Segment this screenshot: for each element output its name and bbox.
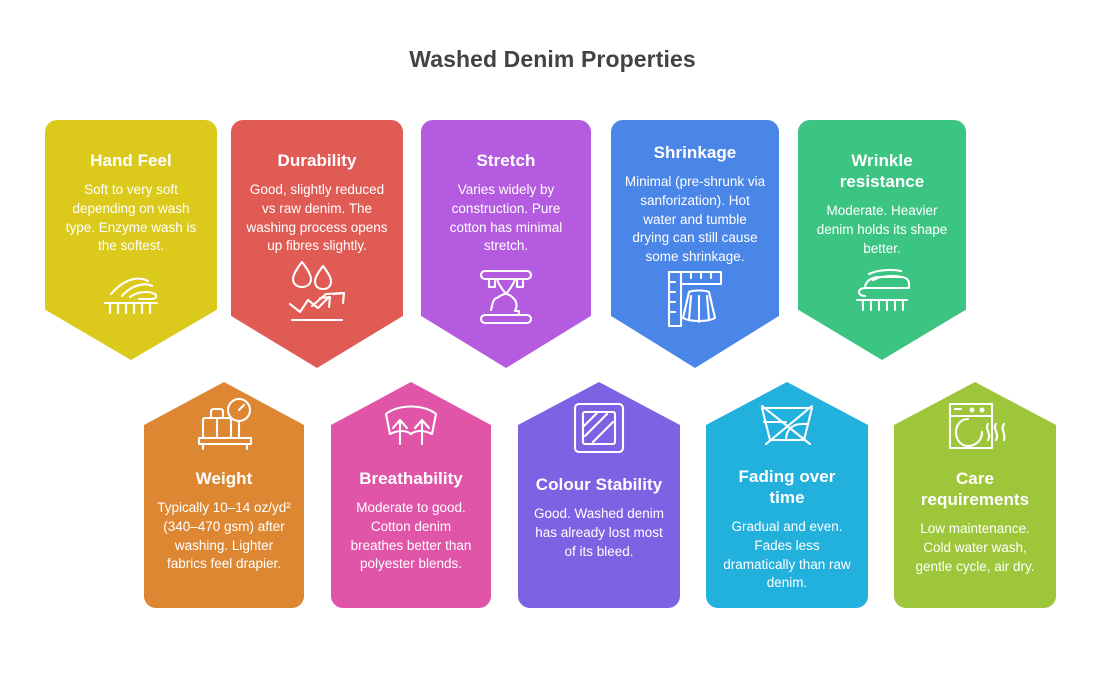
infographic-root: Washed Denim Properties Hand Feel Soft t… xyxy=(0,0,1105,683)
page-title: Washed Denim Properties xyxy=(0,46,1105,73)
card-hand-feel[interactable]: Hand Feel Soft to very soft depending on… xyxy=(45,120,217,360)
card-description: Good. Washed denim has already lost most… xyxy=(531,505,667,561)
iron-icon xyxy=(851,268,913,318)
card-fading-over-time[interactable]: Fading over time Gradual and even. Fades… xyxy=(706,382,868,608)
card-colour-stability[interactable]: Colour Stability Good. Washed denim has … xyxy=(518,382,680,608)
card-description: Typically 10–14 oz/yd² (340–470 gsm) aft… xyxy=(157,499,291,574)
ruler-skirt-icon xyxy=(663,268,727,332)
water-drops-arrows-icon xyxy=(282,258,352,326)
airflow-arrows-icon xyxy=(378,400,444,450)
card-description: Moderate to good. Cotton denim breathes … xyxy=(344,499,478,574)
card-description: Soft to very soft depending on wash type… xyxy=(58,181,204,256)
card-title: Stretch xyxy=(477,150,536,171)
card-title: Breathability xyxy=(359,468,463,489)
card-title: Durability xyxy=(278,150,357,171)
card-title: Fading over time xyxy=(719,466,855,508)
card-description: Low maintenance. Cold water wash, gentle… xyxy=(907,520,1043,576)
card-description: Minimal (pre-shrunk via sanforization). … xyxy=(624,173,766,267)
card-breathability[interactable]: Breathability Moderate to good. Cotton d… xyxy=(331,382,491,608)
card-description: Moderate. Heavier denim holds its shape … xyxy=(811,202,953,258)
hand-on-fabric-icon xyxy=(100,272,162,318)
card-title: Shrinkage xyxy=(654,142,737,163)
card-wrinkle-resistance[interactable]: Wrinkle resistance Moderate. Heavier den… xyxy=(798,120,966,360)
card-description: Good, slightly reduced vs raw denim. The… xyxy=(244,181,390,256)
card-title: Wrinkle resistance xyxy=(811,150,953,192)
card-care-requirements[interactable]: Care requirements Low maintenance. Cold … xyxy=(894,382,1056,608)
stretching-fabric-icon xyxy=(475,268,537,326)
card-title: Weight xyxy=(196,468,253,489)
card-shrinkage[interactable]: Shrinkage Minimal (pre-shrunk via sanfor… xyxy=(611,120,779,368)
card-description: Gradual and even. Fades less dramaticall… xyxy=(719,518,855,593)
scale-weight-icon xyxy=(193,398,255,454)
washing-machine-icon xyxy=(944,398,1006,454)
no-bleach-icon xyxy=(756,400,818,450)
card-stretch[interactable]: Stretch Varies widely by construction. P… xyxy=(421,120,591,368)
card-weight[interactable]: Weight Typically 10–14 oz/yd² (340–470 g… xyxy=(144,382,304,608)
card-description: Varies widely by construction. Pure cott… xyxy=(434,181,578,256)
fabric-swatch-icon xyxy=(571,400,627,456)
card-title: Colour Stability xyxy=(536,474,662,495)
card-title: Care requirements xyxy=(907,468,1043,510)
card-durability[interactable]: Durability Good, slightly reduced vs raw… xyxy=(231,120,403,368)
card-title: Hand Feel xyxy=(90,150,172,171)
